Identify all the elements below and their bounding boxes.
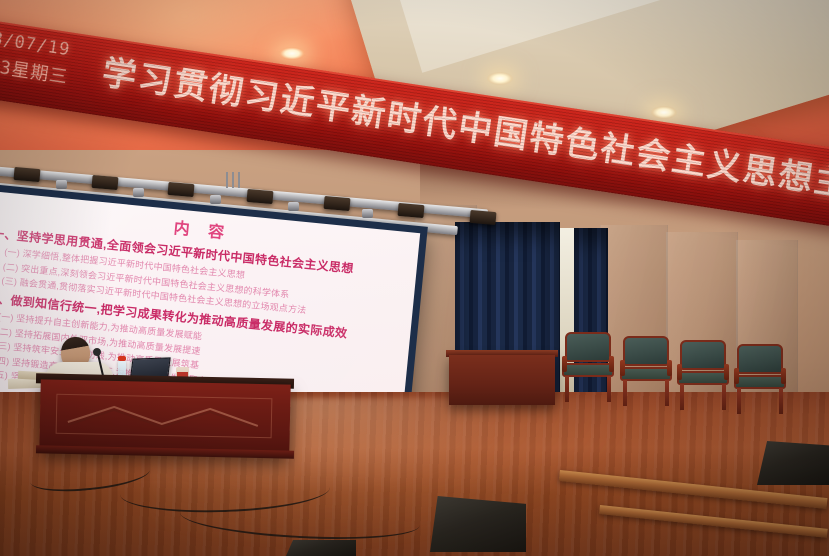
stage-light-1 bbox=[13, 167, 40, 182]
chair-leg-left bbox=[680, 384, 684, 410]
truss-hanger-1 bbox=[226, 172, 228, 188]
stage-light-6 bbox=[397, 203, 424, 218]
chair-leg-left bbox=[623, 380, 627, 406]
stage-curtain-right bbox=[574, 228, 608, 408]
chair-backrest bbox=[623, 336, 669, 366]
chair-backrest bbox=[737, 344, 783, 374]
stage-monitor-3 bbox=[286, 540, 356, 556]
stage-light-7 bbox=[469, 210, 496, 225]
stage-light-can-2 bbox=[133, 188, 144, 197]
stage-monitor-2 bbox=[757, 441, 829, 485]
stage-light-can-4 bbox=[288, 202, 299, 211]
truss-hanger-3 bbox=[238, 172, 240, 188]
lectern bbox=[449, 355, 555, 405]
chair-leg-right bbox=[665, 380, 669, 406]
zigzag-icon bbox=[66, 402, 262, 430]
chair-armrest-right bbox=[609, 356, 614, 372]
chair-leg-right bbox=[722, 384, 726, 410]
chair-seat bbox=[562, 363, 614, 377]
downlight-1 bbox=[279, 47, 305, 60]
chair-armrest-right bbox=[724, 364, 729, 380]
chair-leg-right bbox=[779, 388, 783, 414]
chair-armrest-right bbox=[781, 368, 786, 384]
head-table-zigzag-ornament bbox=[66, 402, 262, 430]
chair-armrest-left bbox=[677, 364, 682, 380]
chair-leg-right bbox=[607, 376, 611, 402]
stage-light-3 bbox=[167, 182, 194, 197]
stage-light-can-3 bbox=[210, 195, 221, 204]
water-bottle-cap bbox=[118, 356, 126, 361]
stage-light-4 bbox=[246, 189, 273, 204]
chair-armrest-left bbox=[620, 360, 625, 376]
microphone-head-icon bbox=[93, 348, 101, 356]
stage-light-can-5 bbox=[362, 209, 373, 218]
stage-light-can-1 bbox=[56, 180, 67, 189]
chair-armrest-left bbox=[562, 356, 567, 372]
truss-hanger-2 bbox=[232, 172, 234, 188]
downlight-2 bbox=[487, 72, 513, 85]
chair-armrest-right bbox=[667, 360, 672, 376]
stage-light-5 bbox=[323, 196, 350, 211]
chair-leg-left bbox=[565, 376, 569, 402]
chair-seat bbox=[734, 375, 786, 389]
downlight-3 bbox=[651, 106, 677, 119]
chair-seat bbox=[677, 371, 729, 385]
conference-hall-photo: 内 容 一、坚持学思用贯通,全面领会习近平新时代中国特色社会主义思想 (一) 深… bbox=[0, 0, 829, 556]
chair-seat bbox=[620, 367, 672, 381]
chair-leg-left bbox=[737, 388, 741, 414]
stage-light-2 bbox=[91, 175, 118, 190]
chair-backrest bbox=[680, 340, 726, 370]
chair-backrest bbox=[565, 332, 611, 362]
stage-monitor-1 bbox=[430, 496, 526, 552]
chair-armrest-left bbox=[734, 368, 739, 384]
